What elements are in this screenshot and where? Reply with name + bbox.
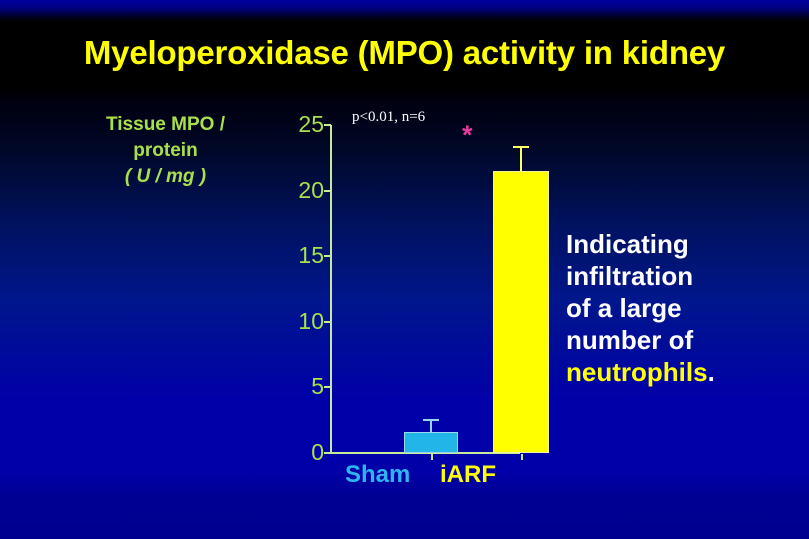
significance-asterisk: * <box>462 122 473 149</box>
bar-iarf[interactable] <box>493 171 549 453</box>
commentary-highlight-word: neutrophils <box>566 357 708 387</box>
commentary-line-2: infiltration <box>566 260 806 292</box>
x-category-label-sham: Sham <box>345 462 410 488</box>
bar-chart-plot: 0510152025 <box>278 110 548 510</box>
y-axis-title: Tissue MPO / protein ( U / mg ) <box>58 112 273 190</box>
error-bar-sham-cap <box>423 419 439 421</box>
commentary-text: Indicating infiltration of a large numbe… <box>566 228 806 388</box>
commentary-line-3: of a large <box>566 292 806 324</box>
page-title: Myeloperoxidase (MPO) activity in kidney <box>0 20 809 86</box>
bar-group <box>330 125 570 453</box>
y-tick-label-10: 10 <box>278 310 324 333</box>
error-bar-iarf-stem <box>520 146 522 171</box>
commentary-period: . <box>708 357 715 387</box>
y-axis-title-line-3: ( U / mg ) <box>58 164 273 190</box>
bar-sham[interactable] <box>404 432 458 453</box>
y-tick-label-25: 25 <box>278 113 324 136</box>
commentary-line-4: number of <box>566 324 806 356</box>
x-tick-iarf <box>521 454 523 460</box>
slide-canvas: Myeloperoxidase (MPO) activity in kidney… <box>0 0 809 539</box>
y-tick-label-15: 15 <box>278 244 324 267</box>
commentary-line-5: neutrophils. <box>566 356 806 388</box>
y-tick-label-5: 5 <box>278 375 324 398</box>
x-tick-sham <box>431 454 433 460</box>
y-axis-title-line-1: Tissue MPO / <box>58 112 273 138</box>
y-axis-title-line-2: protein <box>58 138 273 164</box>
p-value-annotation: p<0.01, n=6 <box>352 108 425 126</box>
slide-title-band: Myeloperoxidase (MPO) activity in kidney <box>0 20 809 86</box>
x-category-label-iarf: iARF <box>440 462 496 488</box>
commentary-line-1: Indicating <box>566 228 806 260</box>
y-tick-label-0: 0 <box>278 441 324 464</box>
y-tick-label-20: 20 <box>278 179 324 202</box>
error-bar-iarf-cap <box>513 146 529 148</box>
